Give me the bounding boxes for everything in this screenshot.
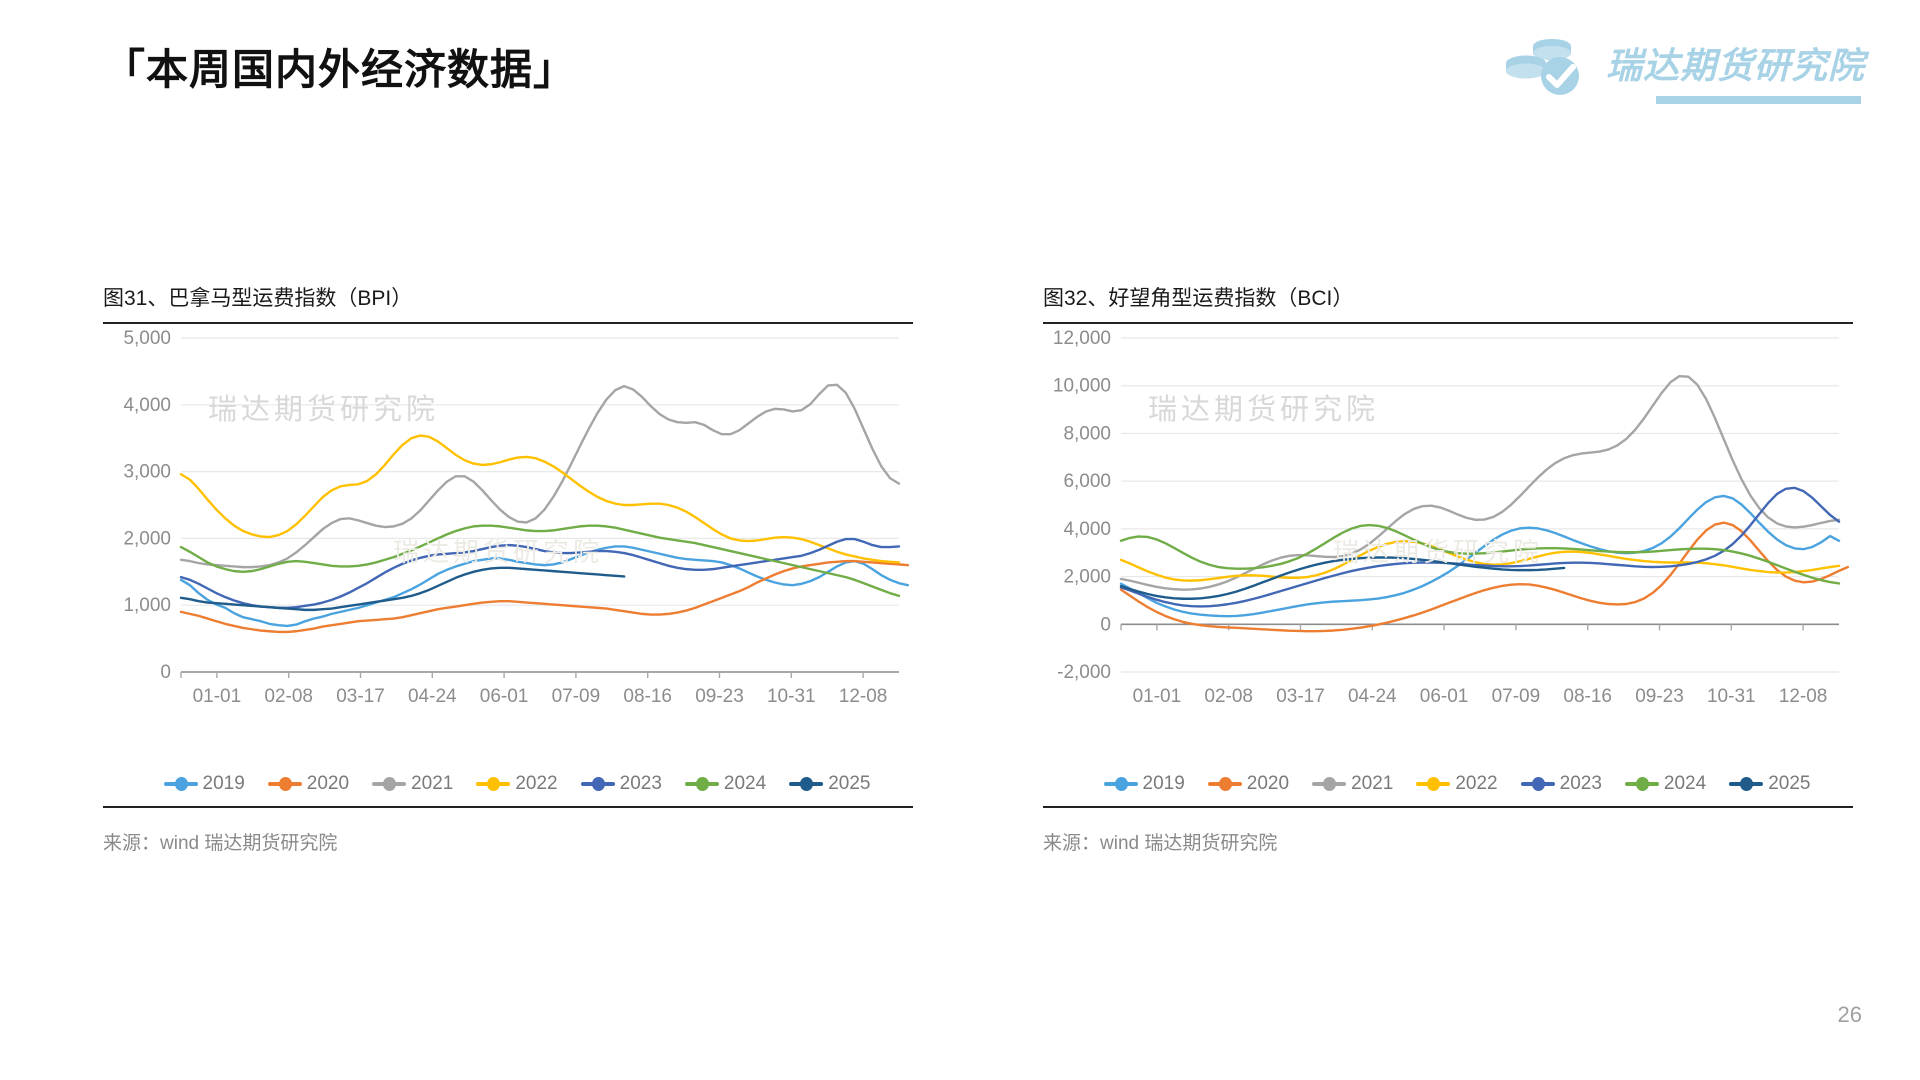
coins-check-icon (1504, 36, 1596, 96)
legend-marker-icon (372, 777, 406, 791)
legend-marker-icon (1521, 777, 1555, 791)
legend-label: 2022 (1455, 773, 1497, 795)
svg-text:09-23: 09-23 (1635, 686, 1684, 707)
figure-panel-bci: 图32、好望角型运费指数（BCI） 12,00010,0008,0006,000… (1043, 282, 1853, 855)
svg-text:0: 0 (160, 662, 171, 683)
legend-item-2024[interactable]: 2024 (685, 773, 766, 795)
svg-text:8,000: 8,000 (1063, 423, 1111, 444)
svg-text:4,000: 4,000 (1063, 519, 1111, 540)
legend-label: 2021 (1351, 773, 1393, 795)
legend-label: 2019 (203, 773, 245, 795)
legend-label: 2024 (724, 773, 766, 795)
legend-item-2019[interactable]: 2019 (164, 773, 245, 795)
legend-marker-icon (1312, 777, 1346, 791)
chart-plot-area: 12,00010,0008,0006,0004,0002,0000-2,0000… (1043, 324, 1853, 724)
legend-label: 2023 (620, 773, 662, 795)
svg-text:01-01: 01-01 (193, 686, 242, 707)
svg-text:04-24: 04-24 (408, 686, 457, 707)
page-title: 「本周国内外经济数据」 (103, 36, 576, 97)
svg-text:4,000: 4,000 (123, 395, 171, 416)
svg-text:3,000: 3,000 (123, 462, 171, 483)
legend-marker-icon (1104, 777, 1138, 791)
source-text: 来源：wind 瑞达期货研究院 (1043, 808, 1853, 855)
svg-text:12,000: 12,000 (1053, 328, 1111, 349)
svg-text:10-31: 10-31 (767, 686, 816, 707)
legend-marker-icon (1208, 777, 1242, 791)
legend-marker-icon (789, 777, 823, 791)
svg-text:03-17: 03-17 (336, 686, 385, 707)
svg-text:2,000: 2,000 (123, 528, 171, 549)
legend-item-2022[interactable]: 2022 (476, 773, 557, 795)
brand-logo-text: 瑞达期货研究院 (1606, 48, 1865, 84)
svg-text:12-08: 12-08 (1779, 686, 1828, 707)
chart-legend: 2019202020212022202320242025 (103, 764, 913, 804)
legend-item-2025[interactable]: 2025 (1729, 773, 1810, 795)
svg-text:09-23: 09-23 (695, 686, 744, 707)
svg-text:04-24: 04-24 (1348, 686, 1397, 707)
legend-label: 2024 (1664, 773, 1706, 795)
legend-marker-icon (476, 777, 510, 791)
legend-item-2021[interactable]: 2021 (372, 773, 453, 795)
chart-legend: 2019202020212022202320242025 (1043, 764, 1853, 804)
svg-text:07-09: 07-09 (552, 686, 601, 707)
svg-text:-2,000: -2,000 (1057, 662, 1111, 683)
svg-text:10,000: 10,000 (1053, 376, 1111, 397)
legend-label: 2025 (828, 773, 870, 795)
legend-marker-icon (1416, 777, 1450, 791)
svg-text:06-01: 06-01 (1420, 686, 1469, 707)
figure-caption: 图32、好望角型运费指数（BCI） (1043, 282, 1853, 322)
legend-item-2025[interactable]: 2025 (789, 773, 870, 795)
svg-text:5,000: 5,000 (123, 328, 171, 349)
svg-text:02-08: 02-08 (264, 686, 313, 707)
figure-panel-bpi: 图31、巴拿马型运费指数（BPI） 5,0004,0003,0002,0001,… (103, 282, 913, 855)
page-number: 26 (1838, 1002, 1862, 1028)
svg-text:12-08: 12-08 (839, 686, 888, 707)
legend-label: 2023 (1560, 773, 1602, 795)
svg-text:02-08: 02-08 (1204, 686, 1253, 707)
legend-label: 2019 (1143, 773, 1185, 795)
svg-text:08-16: 08-16 (623, 686, 672, 707)
legend-label: 2022 (515, 773, 557, 795)
legend-marker-icon (685, 777, 719, 791)
legend-item-2019[interactable]: 2019 (1104, 773, 1185, 795)
source-text: 来源：wind 瑞达期货研究院 (103, 808, 913, 855)
svg-text:01-01: 01-01 (1133, 686, 1182, 707)
svg-text:08-16: 08-16 (1563, 686, 1612, 707)
brand-logo-underline (1656, 96, 1861, 104)
chart-bpi: 5,0004,0003,0002,0001,000001-0102-0803-1… (103, 324, 913, 764)
chart-bci: 12,00010,0008,0006,0004,0002,0000-2,0000… (1043, 324, 1853, 764)
svg-text:1,000: 1,000 (123, 595, 171, 616)
legend-marker-icon (1729, 777, 1763, 791)
legend-item-2023[interactable]: 2023 (581, 773, 662, 795)
legend-marker-icon (581, 777, 615, 791)
svg-text:6,000: 6,000 (1063, 471, 1111, 492)
svg-text:03-17: 03-17 (1276, 686, 1325, 707)
legend-item-2022[interactable]: 2022 (1416, 773, 1497, 795)
legend-marker-icon (268, 777, 302, 791)
legend-label: 2020 (1247, 773, 1289, 795)
legend-item-2021[interactable]: 2021 (1312, 773, 1393, 795)
legend-label: 2020 (307, 773, 349, 795)
legend-item-2024[interactable]: 2024 (1625, 773, 1706, 795)
figure-caption: 图31、巴拿马型运费指数（BPI） (103, 282, 913, 322)
legend-item-2020[interactable]: 2020 (268, 773, 349, 795)
legend-marker-icon (164, 777, 198, 791)
brand-logo: 瑞达期货研究院 (1504, 36, 1865, 96)
svg-text:0: 0 (1100, 614, 1111, 635)
svg-text:07-09: 07-09 (1492, 686, 1541, 707)
legend-label: 2025 (1768, 773, 1810, 795)
legend-item-2023[interactable]: 2023 (1521, 773, 1602, 795)
legend-marker-icon (1625, 777, 1659, 791)
legend-label: 2021 (411, 773, 453, 795)
legend-item-2020[interactable]: 2020 (1208, 773, 1289, 795)
svg-text:10-31: 10-31 (1707, 686, 1756, 707)
svg-text:06-01: 06-01 (480, 686, 529, 707)
svg-text:2,000: 2,000 (1063, 567, 1111, 588)
chart-plot-area: 5,0004,0003,0002,0001,000001-0102-0803-1… (103, 324, 913, 724)
